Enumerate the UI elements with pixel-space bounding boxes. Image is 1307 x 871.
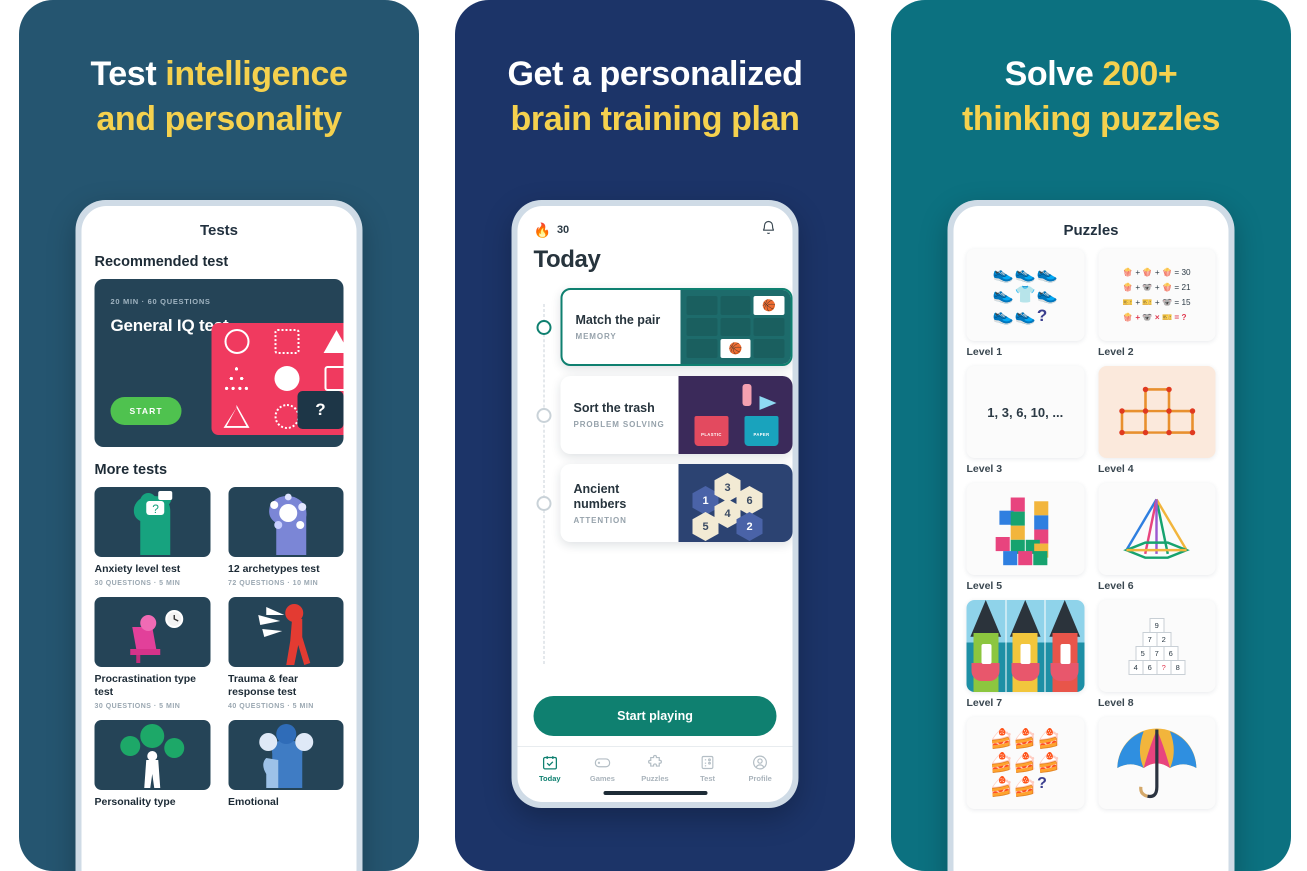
pyramid-cell: 4	[1128, 660, 1143, 675]
task-row[interactable]: Match the pair MEMORY 🏀 🏀	[518, 288, 793, 366]
headline-part-white: Get a personalized	[507, 55, 802, 93]
page-title: Today	[534, 246, 777, 274]
start-playing-button[interactable]: Start playing	[534, 696, 777, 736]
puzzle-card-level-4[interactable]: Level 4	[1098, 366, 1216, 475]
test-name: 12 archetypes test	[228, 563, 344, 577]
head-question-icon: ?	[95, 487, 211, 557]
task-category: PROBLEM SOLVING	[574, 420, 669, 429]
equation-row: 🍿 + 🍿 + 🍿 = 30	[1123, 265, 1191, 280]
test-card[interactable]: Procrastination type test 30 QUESTIONS ·…	[95, 597, 211, 710]
puzzle-level-label: Level 1	[967, 346, 1085, 358]
pyramid-cell: 6	[1142, 660, 1157, 675]
plastic-bin-icon: PLASTIC	[695, 416, 729, 446]
paper-bin-icon: PAPER	[745, 416, 779, 446]
puzzle-levels-grid: 👟👟👟 👟👕👟 👟👟? Level 1 🍿 + 🍿 + 🍿 = 30	[954, 249, 1229, 809]
test-card[interactable]: 12 archetypes test 72 QUESTIONS · 10 MIN	[228, 487, 344, 587]
headline-part-white: Test	[90, 55, 156, 93]
paper-plane-icon	[760, 396, 777, 410]
app-screen-puzzles: Puzzles 👟👟👟 👟👕👟 👟👟? Level 1	[954, 206, 1229, 871]
triangle-outline-icon	[224, 405, 250, 428]
emoji-equations-icon: 🍿 + 🍿 + 🍿 = 30 🍿 + 🐨 + 🍿 = 21 🎫 + 🎫 + 🐨 …	[1098, 249, 1216, 341]
test-name: Trauma & fear response test	[228, 673, 344, 700]
puzzle-card-cakes[interactable]: 🍰🍰🍰 🍰🍰🍰 🍰🍰?	[967, 717, 1085, 809]
pyramid-cell: 6	[1163, 646, 1178, 661]
clipboard-icon	[700, 754, 716, 771]
puzzle-level-label: Level 4	[1098, 463, 1216, 475]
tab-puzzles[interactable]: Puzzles	[629, 754, 682, 783]
puzzle-card-level-8[interactable]: 9 7 2 5 7 6	[1098, 600, 1216, 709]
app-screen-tests: Tests Recommended test 20 MIN · 60 QUEST…	[82, 206, 357, 871]
matchstick-grid-icon	[1098, 366, 1216, 458]
test-card[interactable]: Personality type	[95, 720, 211, 813]
headline-part-yellow-1: intelligence	[165, 55, 347, 93]
puzzle-level-label: Level 5	[967, 580, 1085, 592]
task-title: Match the pair	[576, 313, 671, 328]
phone-mockup-3: Puzzles 👟👟👟 👟👕👟 👟👟? Level 1	[948, 200, 1235, 871]
tab-profile[interactable]: Profile	[734, 754, 787, 783]
question-mark-tile: ?	[298, 391, 344, 429]
circle-outline-icon	[224, 329, 249, 354]
puzzle-level-label: Level 2	[1098, 346, 1216, 358]
boat-house-scenes-icon	[967, 600, 1085, 692]
tab-label: Test	[700, 774, 715, 783]
panel-1-headline: Test intelligence and personality	[19, 0, 419, 142]
cake-grid-icon: 🍰🍰🍰 🍰🍰🍰 🍰🍰?	[967, 717, 1085, 809]
pyramid-cell: 9	[1149, 618, 1164, 633]
sequence-text: 1, 3, 6, 10, ...	[987, 405, 1063, 420]
task-row[interactable]: Ancient numbers ATTENTION 1 3 6 4 5	[518, 464, 793, 542]
streak-count: 30	[557, 224, 569, 236]
puzzle-card-umbrella[interactable]	[1098, 717, 1216, 809]
task-card-ancient-numbers[interactable]: Ancient numbers ATTENTION 1 3 6 4 5	[561, 464, 793, 542]
headline-part-white: Solve	[1005, 55, 1094, 93]
headline-part-yellow-1: brain training plan	[511, 100, 800, 138]
recommended-test-meta: 20 MIN · 60 QUESTIONS	[95, 279, 344, 306]
start-playing-wrap: Start playing	[518, 692, 793, 746]
puzzle-card-level-2[interactable]: 🍿 + 🍿 + 🍿 = 30 🍿 + 🐨 + 🍿 = 21 🎫 + 🎫 + 🐨 …	[1098, 249, 1216, 358]
puzzle-level-label: Level 3	[967, 463, 1085, 475]
tab-today[interactable]: Today	[524, 754, 577, 783]
test-card[interactable]: Trauma & fear response test 40 QUESTIONS…	[228, 597, 344, 710]
gamepad-icon	[593, 754, 611, 771]
puzzle-card-level-6[interactable]: Level 6	[1098, 483, 1216, 592]
headline-part-yellow-2: and personality	[96, 100, 341, 138]
flame-icon: 🔥	[534, 222, 551, 239]
square-outline-icon	[324, 366, 344, 391]
tab-label: Games	[590, 774, 615, 783]
pyramid-cell: 7	[1149, 646, 1164, 661]
promo-panel-training-plan: Get a personalized brain training plan 🔥…	[455, 0, 855, 871]
svg-text:?: ?	[152, 502, 159, 516]
tab-label: Puzzles	[641, 774, 669, 783]
home-indicator	[603, 791, 707, 795]
phone-mockup-1: Tests Recommended test 20 MIN · 60 QUEST…	[76, 200, 363, 871]
puzzle-card-level-5[interactable]: Level 5	[967, 483, 1085, 592]
memory-grid-icon: 🏀 🏀	[681, 290, 791, 364]
test-meta: 30 QUESTIONS · 5 MIN	[95, 580, 211, 587]
tab-label: Profile	[749, 774, 772, 783]
test-card[interactable]: ? Anxiety level test 30 QUESTIONS · 5 MI…	[95, 487, 211, 587]
bottle-icon	[743, 384, 752, 406]
circle-filled-icon	[274, 366, 299, 391]
person-circle-icon	[752, 754, 769, 771]
equation-row: 🍿 + 🐨 + 🍿 = 21	[1123, 280, 1191, 295]
pyramid-cell-unknown: ?	[1156, 660, 1171, 675]
headline-part-yellow-2: thinking puzzles	[962, 100, 1220, 138]
phone-mockup-2: 🔥 30 Today Match the pair	[512, 200, 799, 808]
screenshot-stage: Test intelligence and personality Tests …	[0, 0, 1307, 871]
today-header: 🔥 30 Today	[518, 206, 793, 274]
bell-icon[interactable]	[761, 219, 777, 241]
puzzle-level-label: Level 7	[967, 697, 1085, 709]
task-category: MEMORY	[576, 332, 671, 341]
hexagon-numbers-icon: 1 3 6 4 5 2	[679, 464, 793, 542]
promo-panel-puzzles: Solve 200+ thinking puzzles Puzzles 👟👟👟 …	[891, 0, 1291, 871]
pyramid-cell: 5	[1135, 646, 1150, 661]
test-name: Anxiety level test	[95, 563, 211, 577]
puzzle-card-level-7[interactable]: Level 7	[967, 600, 1085, 709]
dotted-square-icon	[274, 329, 299, 354]
colored-pyramid-icon	[1098, 483, 1216, 575]
colored-cubes-icon	[967, 483, 1085, 575]
headline-part-yellow-1: 200+	[1102, 55, 1177, 93]
test-meta: 40 QUESTIONS · 5 MIN	[228, 703, 344, 710]
panel-2-headline: Get a personalized brain training plan	[455, 0, 855, 142]
trash-bins-icon: PLASTIC PAPER	[679, 376, 793, 454]
test-name: Emotional	[228, 796, 344, 810]
test-name: Personality type	[95, 796, 211, 810]
recommended-section-label: Recommended test	[95, 254, 344, 270]
dotted-triangle-icon	[224, 367, 250, 390]
puzzle-level-label: Level 8	[1098, 697, 1216, 709]
task-status-dot[interactable]	[537, 496, 552, 511]
puzzle-card-level-3[interactable]: 1, 3, 6, 10, ... Level 3	[967, 366, 1085, 475]
task-title: Ancient numbers	[574, 482, 669, 512]
puzzle-piece-icon	[646, 754, 663, 771]
tab-games[interactable]: Games	[576, 754, 629, 783]
tab-test[interactable]: Test	[681, 754, 734, 783]
pyramid-cell: 7	[1142, 632, 1157, 647]
number-pyramid-icon: 9 7 2 5 7 6	[1098, 600, 1216, 692]
task-title: Sort the trash	[574, 401, 669, 416]
pyramid-cell: 2	[1156, 632, 1171, 647]
number-sequence-icon: 1, 3, 6, 10, ...	[967, 366, 1085, 458]
bottom-tab-bar: Today Games Puzzles Test	[518, 746, 793, 786]
task-status-dot[interactable]	[537, 320, 552, 335]
start-test-button[interactable]: START	[111, 397, 182, 425]
test-meta: 30 QUESTIONS · 5 MIN	[95, 703, 211, 710]
fear-figure-icon	[228, 597, 344, 667]
test-name: Procrastination type test	[95, 673, 211, 700]
promo-panel-tests: Test intelligence and personality Tests …	[19, 0, 419, 871]
app-screen-today: 🔥 30 Today Match the pair	[518, 206, 793, 802]
umbrella-icon	[1098, 717, 1216, 809]
task-status-dot[interactable]	[537, 408, 552, 423]
streak-row: 🔥 30	[534, 219, 777, 241]
task-card-match-the-pair[interactable]: Match the pair MEMORY 🏀 🏀	[561, 288, 793, 366]
dotted-circle-icon	[274, 404, 299, 429]
equation-row: 🍿 + 🐨 × 🎫 = ?	[1123, 310, 1191, 325]
emotion-faces-icon	[228, 720, 344, 790]
tab-label: Today	[539, 774, 561, 783]
test-card[interactable]: Emotional	[228, 720, 344, 813]
person-spheres-icon	[95, 720, 211, 790]
equation-row: 🎫 + 🎫 + 🐨 = 15	[1123, 295, 1191, 310]
task-row[interactable]: Sort the trash PROBLEM SOLVING PLASTIC P…	[518, 376, 793, 454]
page-title: Tests	[82, 206, 357, 251]
brain-network-icon	[228, 487, 344, 557]
test-meta: 72 QUESTIONS · 10 MIN	[228, 580, 344, 587]
task-card-sort-the-trash[interactable]: Sort the trash PROBLEM SOLVING PLASTIC P…	[561, 376, 793, 454]
tests-grid: ? Anxiety level test 30 QUESTIONS · 5 MI…	[95, 487, 344, 813]
page-title: Puzzles	[954, 206, 1229, 249]
triangle-filled-icon	[324, 330, 344, 353]
puzzle-level-label: Level 6	[1098, 580, 1216, 592]
calendar-check-icon	[541, 754, 558, 771]
chair-clock-icon	[95, 597, 211, 667]
sneaker-shirt-grid-icon: 👟👟👟 👟👕👟 👟👟?	[967, 249, 1085, 341]
task-category: ATTENTION	[574, 516, 669, 525]
pyramid-cell: 8	[1170, 660, 1185, 675]
task-timeline: Match the pair MEMORY 🏀 🏀	[518, 274, 793, 692]
puzzle-card-level-1[interactable]: 👟👟👟 👟👕👟 👟👟? Level 1	[967, 249, 1085, 358]
more-tests-label: More tests	[95, 462, 344, 478]
recommended-test-card[interactable]: 20 MIN · 60 QUESTIONS General IQ test ST…	[95, 279, 344, 447]
panel-3-headline: Solve 200+ thinking puzzles	[891, 0, 1291, 142]
